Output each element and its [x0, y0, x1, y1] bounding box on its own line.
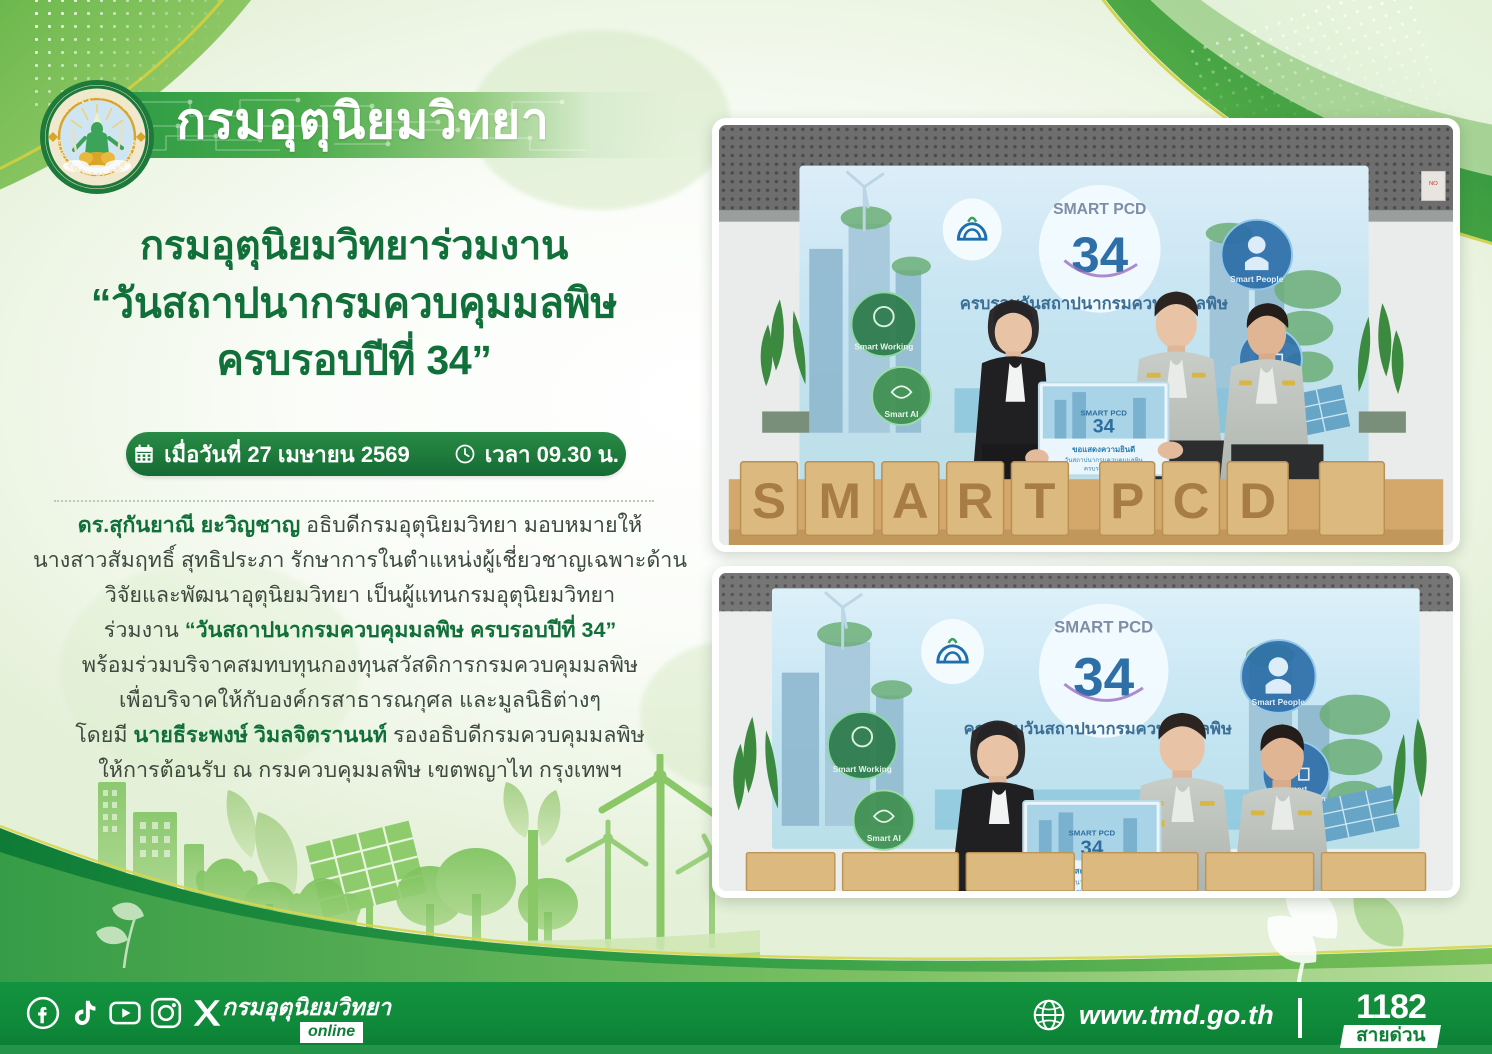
foreground-boxes — [746, 853, 1425, 891]
date-segment: เมื่อวันที่ 27 เมษายน 2569 — [133, 437, 410, 472]
youtube-icon[interactable] — [108, 996, 142, 1030]
backdrop-badge-smart-ai: Smart AI — [853, 790, 914, 849]
svg-text:C: C — [1173, 472, 1210, 529]
svg-text:R: R — [957, 472, 994, 529]
body-line: ดร.สุกันยาณี ยะวิญชาญ อธิบดีกรมอุตุนิยมว… — [30, 508, 690, 543]
time-segment: เวลา 09.30 น. — [454, 437, 619, 472]
svg-text:34: 34 — [1093, 416, 1115, 438]
x-twitter-icon[interactable] — [190, 996, 224, 1030]
footer-brand-name: กรมอุตุนิยมวิทยา — [222, 994, 412, 1020]
svg-text:S: S — [752, 472, 786, 529]
svg-text:SMART PCD: SMART PCD — [1054, 619, 1153, 637]
title-line-1: กรมอุตุนิยมวิทยาร่วมงาน — [24, 218, 684, 275]
svg-text:Smart AI: Smart AI — [885, 410, 919, 419]
photo-ceremony-closeup: SMART PCD 34 ครบรอบวันสถาปนากรมควบคุมมลพ… — [712, 566, 1460, 898]
svg-text:D: D — [1239, 472, 1276, 529]
body-line: พร้อมร่วมบริจาคสมทบทุนกองทุนสวัสดิการกรม… — [30, 648, 690, 683]
hotline-number: 1182 — [1316, 990, 1466, 1024]
title-line-2: “วันสถาปนากรมควบคุมมลพิษ — [24, 275, 684, 332]
poster-root: กรมอุตุนิยมวิทยา METEOROLOGICAL DEPARTME… — [0, 0, 1492, 1054]
body-line: ร่วมงาน “วันสถาปนากรมควบคุมมลพิษ ครบรอบป… — [30, 613, 690, 648]
instagram-icon[interactable] — [149, 996, 183, 1030]
backdrop-badge-smart-people: Smart People — [1241, 640, 1316, 713]
svg-text:Smart People: Smart People — [1230, 275, 1284, 284]
footer-underline — [0, 1045, 1492, 1054]
svg-text:A: A — [892, 472, 929, 529]
eco-silhouette-scenery — [0, 754, 760, 984]
svg-text:Smart People: Smart People — [1252, 698, 1306, 707]
svg-text:T: T — [1024, 472, 1055, 529]
body-line: วิจัยและพัฒนาอุตุนิยมวิทยา เป็นผู้แทนกรม… — [30, 578, 690, 613]
backdrop-badge-smart-people: Smart People — [1221, 220, 1292, 290]
online-badge: online — [300, 1022, 363, 1043]
header-department-title: กรมอุตุนิยมวิทยา — [176, 88, 549, 154]
body-line: เพื่อบริจาคให้กับองค์กรสาธารณกุศล และมูล… — [30, 683, 690, 718]
clock-icon — [454, 443, 476, 465]
svg-text:ขอแสดงความยินดี: ขอแสดงความยินดี — [1072, 445, 1135, 454]
website-url[interactable]: www.tmd.go.th — [1079, 1000, 1274, 1031]
body-line: โดยมี นายธีระพงษ์ วิมลจิตรานนท์ รองอธิบด… — [30, 718, 690, 753]
social-links-group — [26, 996, 224, 1030]
svg-text:Smart Working: Smart Working — [854, 343, 913, 352]
footer-bar: กรมอุตุนิยมวิทยา online www.tmd.go.th 11… — [0, 982, 1492, 1054]
brand-online-group: กรมอุตุนิยมวิทยา online — [222, 994, 412, 1043]
event-datetime-badge: เมื่อวันที่ 27 เมษายน 2569 เวลา 09.30 น. — [126, 432, 626, 476]
svg-text:Smart Working: Smart Working — [833, 765, 892, 774]
footer-divider — [1298, 998, 1302, 1038]
building-silhouettes — [98, 782, 204, 904]
svg-text:P: P — [1110, 472, 1144, 529]
backdrop-badge-smart-ai: Smart AI — [872, 367, 931, 425]
title-line-3: ครบรอบปีที่ 34” — [24, 332, 684, 389]
svg-text:M: M — [818, 472, 860, 529]
smart-pcd-anniversary-emblem: SMART PCD 34 — [1039, 604, 1169, 738]
pcd-ministry-logo — [921, 619, 984, 684]
hotline-label-badge: สายด่วน — [1340, 1025, 1441, 1048]
facebook-icon[interactable] — [26, 996, 60, 1030]
photo-ceremony-wide: SMART PCD 34 ครบรอบวันสถาปนากรมควบคุมมลพ… — [712, 118, 1460, 552]
svg-text:SMART PCD: SMART PCD — [1053, 201, 1146, 218]
backdrop-badge-smart-working: Smart Working — [851, 292, 916, 356]
tmd-logo-seal: กรมอุตุนิยมวิทยา METEOROLOGICAL DEPARTME… — [38, 78, 156, 196]
pcd-ministry-logo — [943, 199, 1002, 261]
svg-text:SMART PCD: SMART PCD — [1069, 829, 1116, 838]
backdrop-badge-smart-working: Smart Working — [828, 712, 897, 779]
section-divider — [54, 500, 654, 502]
body-line: นางสาวสัมฤทธิ์ สุทธิประภา รักษาการในตำแห… — [30, 543, 690, 578]
body-line: ให้การต้อนรับ ณ กรมควบคุมมลพิษ เขตพญาไท … — [30, 753, 690, 788]
page-title: กรมอุตุนิยมวิทยาร่วมงาน “วันสถาปนากรมควบ… — [24, 218, 684, 389]
svg-text:Smart AI: Smart AI — [867, 834, 901, 843]
tiktok-icon[interactable] — [67, 996, 101, 1030]
article-body: ดร.สุกันยาณี ยะวิญชาญ อธิบดีกรมอุตุนิยมว… — [30, 508, 690, 788]
website-group[interactable]: www.tmd.go.th — [1032, 998, 1274, 1032]
hotline-group: 1182 สายด่วน — [1316, 990, 1466, 1048]
globe-icon — [1032, 998, 1066, 1032]
svg-text:NO: NO — [1429, 181, 1438, 187]
event-date-text: เมื่อวันที่ 27 เมษายน 2569 — [164, 437, 410, 472]
event-time-text: เวลา 09.30 น. — [485, 437, 619, 472]
calendar-icon — [133, 443, 155, 465]
